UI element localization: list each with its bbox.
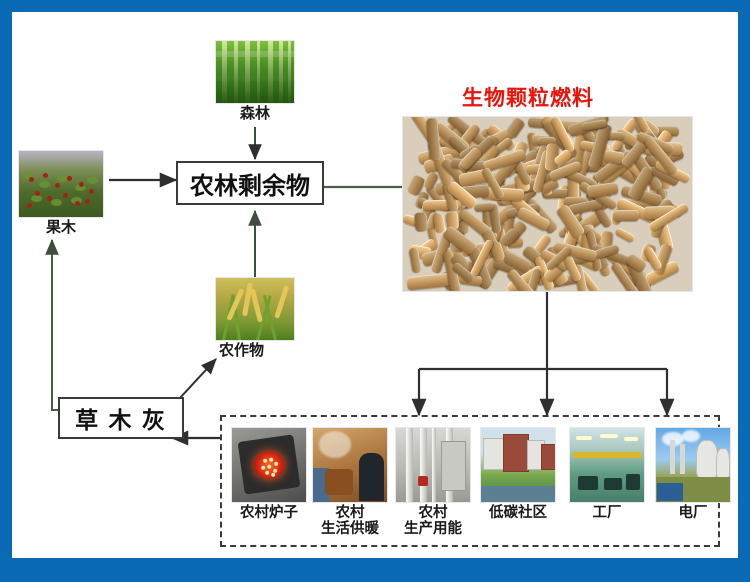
box-agroforestry-residue-label: 农林剩余物 [190, 166, 310, 201]
use-item-label: 农村 生活供暖 [312, 505, 388, 537]
fruit-tree-label: 果木 [18, 220, 104, 237]
diagram-frame: 森林 果木 [12, 12, 738, 558]
power-plant-photo [655, 427, 731, 503]
box-plant-ash-label: 草 木 灰 [75, 401, 167, 435]
rural-production-photo [395, 427, 471, 503]
flow-ash-to-fruit [52, 240, 70, 410]
node-forest: 森林 [215, 40, 295, 123]
flow-pellets-to-uses [419, 290, 667, 415]
diagram-canvas: 森林 果木 [12, 12, 738, 558]
fruit-tree-photo [18, 150, 104, 218]
use-item-rural-stove[interactable]: 农村炉子 [231, 427, 307, 521]
use-item-rural-heating[interactable]: 农村 生活供暖 [312, 427, 388, 537]
use-item-label: 农村 生产用能 [395, 505, 471, 537]
factory-photo [569, 427, 645, 503]
node-crops: 农作物 [215, 277, 295, 360]
node-wood-pellets [402, 116, 693, 292]
forest-photo [215, 40, 295, 104]
use-item-factory[interactable]: 工厂 [569, 427, 645, 521]
use-item-low-carbon-community[interactable]: 低碳社区 [480, 427, 556, 521]
crops-photo [215, 277, 295, 341]
use-item-label: 低碳社区 [480, 505, 556, 521]
box-plant-ash[interactable]: 草 木 灰 [58, 397, 184, 439]
low-carbon-community-photo [480, 427, 556, 503]
use-item-rural-production[interactable]: 农村 生产用能 [395, 427, 471, 537]
page-title: 生物颗粒燃料 [462, 82, 594, 112]
node-fruit-tree: 果木 [18, 150, 104, 237]
forest-label: 森林 [215, 106, 295, 123]
rural-heating-photo [312, 427, 388, 503]
crops-label: 农作物 [215, 343, 295, 360]
use-item-power-plant[interactable]: 电厂 [655, 427, 731, 521]
rural-stove-photo [231, 427, 307, 503]
use-item-label: 电厂 [655, 505, 731, 521]
use-item-label: 工厂 [569, 505, 645, 521]
wood-pellets-photo [402, 116, 693, 292]
use-item-label: 农村炉子 [231, 505, 307, 521]
box-agroforestry-residue[interactable]: 农林剩余物 [176, 161, 324, 205]
